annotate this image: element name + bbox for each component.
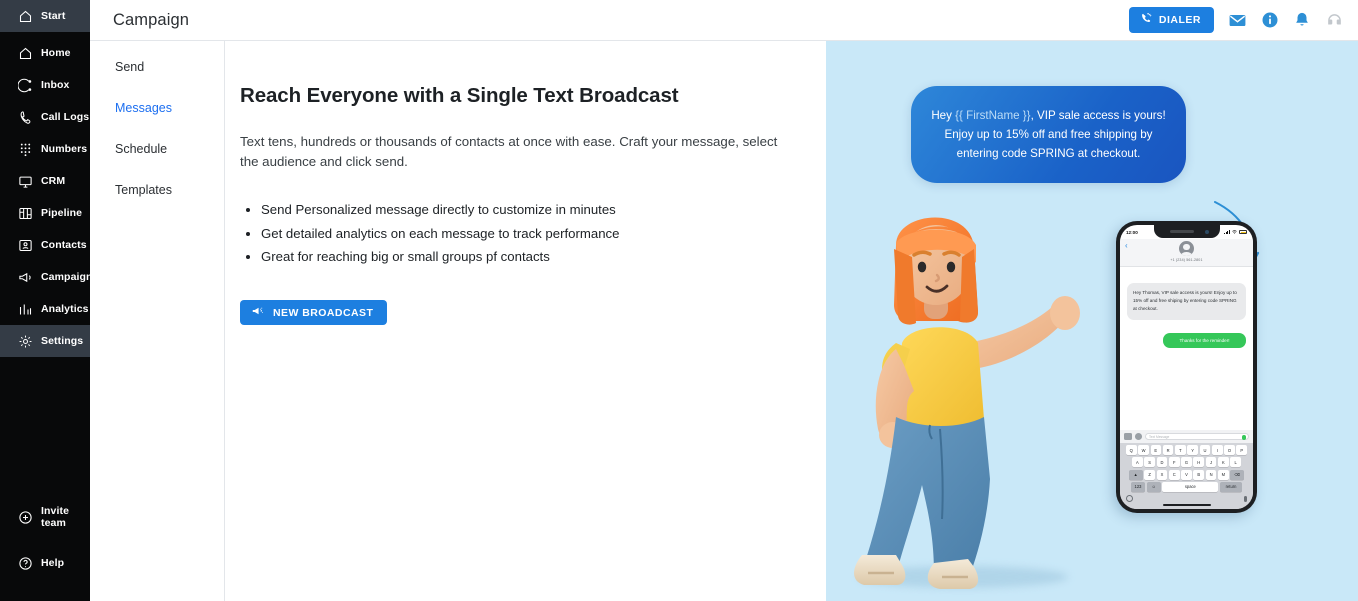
dialer-button[interactable]: DIALER [1129, 7, 1214, 33]
numeric-key[interactable]: 123 [1131, 482, 1145, 492]
key-r[interactable]: R [1163, 445, 1174, 455]
sidebar-item-help[interactable]: Help [0, 547, 90, 579]
key-e[interactable]: E [1151, 445, 1162, 455]
key-d[interactable]: D [1157, 457, 1168, 467]
question-circle-icon [18, 556, 33, 571]
phone-speaker [1170, 230, 1194, 233]
subnav-item-messages[interactable]: Messages [90, 96, 224, 120]
sidebar-item-label: CRM [41, 175, 65, 187]
contacts-icon [18, 238, 33, 253]
subnav-item-schedule[interactable]: Schedule [90, 137, 224, 161]
keyboard-bottom-row [1122, 494, 1251, 502]
headline: Reach Everyone with a Single Text Broadc… [240, 84, 826, 108]
topbar: Campaign DIALER [90, 0, 1358, 41]
phone-icon [18, 110, 33, 125]
pipeline-icon [18, 206, 33, 221]
sidebar-item-settings[interactable]: Settings [0, 325, 90, 357]
key-w[interactable]: W [1138, 445, 1149, 455]
topbar-actions: DIALER [1129, 7, 1358, 33]
phone-notch [1154, 225, 1220, 238]
sidebar-bottom-group: Invite team Help [0, 501, 90, 593]
info-icon[interactable] [1261, 11, 1279, 29]
dialpad-icon [18, 142, 33, 157]
sidebar-item-label: Contacts [41, 239, 87, 251]
avatar [1179, 241, 1194, 256]
incoming-message-bubble: Hey Thomas, VIP sale access is yours! En… [1127, 283, 1246, 320]
bubble-line1-suffix: , VIP sale access is yours! [1031, 109, 1166, 122]
phone-chat-area: Hey Thomas, VIP sale access is yours! En… [1120, 267, 1253, 430]
camera-icon[interactable] [1124, 433, 1132, 440]
hero-illustration: Hey {{ FirstName }}, VIP sale access is … [826, 41, 1358, 601]
key-h[interactable]: H [1193, 457, 1204, 467]
app-root: Start Home Inbox Call Logs Numbers CRM P… [0, 0, 1358, 601]
phone-camera-icon [1205, 230, 1209, 234]
globe-icon[interactable] [1126, 495, 1133, 502]
key-z[interactable]: Z [1144, 470, 1155, 480]
battery-icon [1239, 230, 1247, 234]
phone-screen: 12:00 ‹ +1 (234) 561-2801 [1120, 225, 1253, 509]
gear-icon [18, 334, 33, 349]
key-v[interactable]: V [1181, 470, 1192, 480]
home-icon [18, 46, 33, 61]
sidebar-item-pipeline[interactable]: Pipeline [0, 197, 90, 229]
sidebar-item-label: Home [41, 47, 71, 59]
phone-input-bar: Text Message [1120, 430, 1253, 444]
key-c[interactable]: C [1169, 470, 1180, 480]
keyboard-row-3: ▲ Z X C V B N M ⌫ [1122, 470, 1251, 480]
woman-leaning-on-phone-illustration [838, 203, 1088, 601]
key-a[interactable]: A [1132, 457, 1143, 467]
feature-bullets: Send Personalized message directly to cu… [240, 201, 826, 266]
new-broadcast-label: NEW BROADCAST [273, 307, 373, 319]
sidebar-item-label: Analytics [41, 303, 89, 315]
list-item: Get detailed analytics on each message t… [261, 225, 826, 244]
shift-key[interactable]: ▲ [1129, 470, 1143, 480]
bubble-line1-prefix: Hey [931, 109, 955, 122]
return-key[interactable]: return [1220, 482, 1242, 492]
primary-sidebar: Start Home Inbox Call Logs Numbers CRM P… [0, 0, 90, 601]
backspace-key[interactable]: ⌫ [1230, 470, 1244, 480]
keyboard-row-1: Q W E R T Y U I O P [1122, 445, 1251, 455]
key-f[interactable]: F [1169, 457, 1180, 467]
key-p[interactable]: P [1236, 445, 1247, 455]
key-u[interactable]: U [1200, 445, 1211, 455]
key-g[interactable]: G [1181, 457, 1192, 467]
list-item: Great for reaching big or small groups p… [261, 248, 826, 267]
app-store-icon[interactable] [1135, 433, 1143, 440]
speech-bubble: Hey {{ FirstName }}, VIP sale access is … [911, 86, 1186, 183]
megaphone-icon [18, 270, 33, 285]
bubble-line2: Enjoy up to 15% off and free shipping by [945, 128, 1153, 141]
sidebar-item-label: Settings [41, 335, 83, 347]
space-key[interactable]: space [1162, 482, 1218, 492]
phone-mockup: 12:00 ‹ +1 (234) 561-2801 [1116, 221, 1257, 513]
content-area: Reach Everyone with a Single Text Broadc… [225, 41, 1358, 601]
home-indicator [1163, 504, 1211, 506]
monitor-icon [18, 174, 33, 189]
sidebar-item-label: Help [41, 557, 64, 569]
subnav-item-send[interactable]: Send [90, 55, 224, 79]
signal-icon [1224, 230, 1230, 234]
sidebar-item-label: Inbox [41, 79, 70, 91]
body-row: Send Messages Schedule Templates Reach E… [90, 41, 1358, 601]
new-broadcast-button[interactable]: NEW BROADCAST [240, 300, 387, 325]
sidebar-item-call-logs[interactable]: Call Logs [0, 101, 90, 133]
bubble-placeholder-token: {{ FirstName }} [955, 109, 1030, 122]
sidebar-item-label: Campaign [41, 271, 93, 283]
sidebar-item-label: Numbers [41, 143, 87, 155]
key-o[interactable]: O [1224, 445, 1235, 455]
wifi-icon [1232, 230, 1237, 235]
phone-call-icon [1139, 12, 1152, 28]
outgoing-message-bubble: Thanks for the reminder! [1163, 333, 1246, 348]
message-input-placeholder: Text Message [1149, 435, 1169, 439]
key-x[interactable]: X [1157, 470, 1168, 480]
contact-number: +1 (234) 561-2801 [1170, 258, 1202, 262]
key-n[interactable]: N [1206, 470, 1217, 480]
send-icon[interactable] [1242, 435, 1246, 439]
sidebar-item-analytics[interactable]: Analytics [0, 293, 90, 325]
sidebar-item-campaign[interactable]: Campaign [0, 261, 90, 293]
phone-keyboard: Q W E R T Y U I O P [1120, 443, 1253, 509]
page-title: Campaign [113, 11, 189, 30]
phone-status-indicators [1224, 230, 1247, 235]
dialer-button-label: DIALER [1159, 14, 1201, 26]
back-chevron-icon[interactable]: ‹ [1125, 242, 1128, 250]
phone-chat-header: ‹ +1 (234) 561-2801 [1120, 239, 1253, 267]
key-b[interactable]: B [1193, 470, 1204, 480]
keyboard-row-4: 123 ☺ space return [1122, 482, 1251, 492]
sidebar-item-invite-team[interactable]: Invite team [0, 501, 90, 533]
keyboard-row-2: A S D F G H J K L [1122, 457, 1251, 467]
subnav-item-templates[interactable]: Templates [90, 178, 224, 202]
key-m[interactable]: M [1218, 470, 1229, 480]
sidebar-item-label: Invite team [41, 505, 90, 529]
list-item: Send Personalized message directly to cu… [261, 201, 826, 220]
key-j[interactable]: J [1206, 457, 1217, 467]
speech-bubble-tail [926, 174, 957, 192]
key-i[interactable]: I [1212, 445, 1223, 455]
inbox-icon [18, 78, 33, 93]
home-start-icon [18, 9, 33, 24]
sidebar-item-crm[interactable]: CRM [0, 165, 90, 197]
microphone-icon[interactable] [1244, 496, 1247, 502]
sidebar-item-home[interactable]: Home [0, 37, 90, 69]
bell-icon[interactable] [1293, 11, 1311, 29]
key-y[interactable]: Y [1187, 445, 1198, 455]
headset-icon[interactable] [1325, 11, 1344, 30]
plus-circle-icon [18, 510, 33, 525]
key-k[interactable]: K [1218, 457, 1229, 467]
sidebar-item-contacts[interactable]: Contacts [0, 229, 90, 261]
emoji-key[interactable]: ☺ [1147, 482, 1161, 492]
subcopy: Text tens, hundreds or thousands of cont… [240, 132, 785, 171]
bubble-line3: entering code SPRING at checkout. [957, 147, 1141, 160]
megaphone-icon [251, 304, 265, 321]
sidebar-item-label: Pipeline [41, 207, 82, 219]
message-input[interactable]: Text Message [1145, 433, 1249, 441]
secondary-nav: Send Messages Schedule Templates [90, 41, 225, 601]
sidebar-item-label: Call Logs [41, 111, 89, 123]
key-s[interactable]: S [1144, 457, 1155, 467]
phone-status-time: 12:00 [1126, 230, 1138, 235]
right-pane: Campaign DIALER Send Messages Schedule T… [90, 0, 1358, 601]
sidebar-item-numbers[interactable]: Numbers [0, 133, 90, 165]
bar-chart-icon [18, 302, 33, 317]
sidebar-item-label: Start [41, 10, 65, 22]
sidebar-item-start[interactable]: Start [0, 0, 90, 32]
sidebar-item-inbox[interactable]: Inbox [0, 69, 90, 101]
key-q[interactable]: Q [1126, 445, 1137, 455]
key-l[interactable]: L [1230, 457, 1241, 467]
marketing-copy: Reach Everyone with a Single Text Broadc… [225, 41, 826, 601]
key-t[interactable]: T [1175, 445, 1186, 455]
mail-icon[interactable] [1228, 11, 1247, 30]
